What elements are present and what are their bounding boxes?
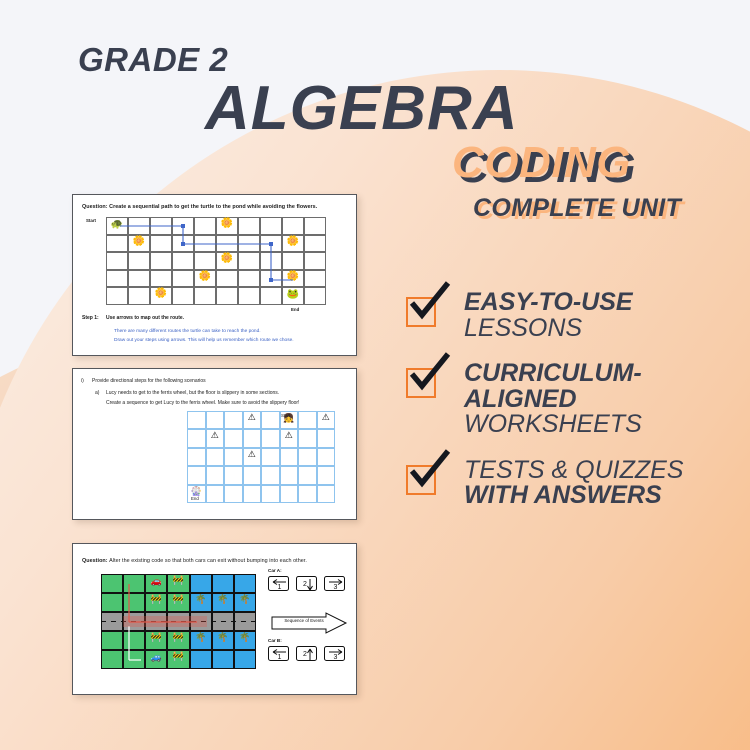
car-b-label: Car B: [268,638,282,643]
grid-cell[interactable] [298,485,317,503]
grid-cell[interactable] [317,448,336,466]
grid-cell[interactable] [261,466,280,484]
car-b-step-3[interactable]: 3 [324,646,345,661]
grid-cell[interactable] [280,485,299,503]
grid-cell[interactable] [317,429,336,447]
feature-list: EASY-TO-USE LESSONS CURRICULUM- ALIGNED … [404,290,744,529]
grid-cell[interactable] [206,485,225,503]
hint-line-2: Draw out your steps using arrows. This w… [114,337,294,344]
grid-cell[interactable] [243,429,262,447]
grid-cell[interactable] [261,485,280,503]
car-a-step-1[interactable]: 1 [268,576,289,591]
grid-cell[interactable] [187,448,206,466]
grid-cell[interactable] [224,466,243,484]
feature-subtitle: LESSONS [464,316,744,342]
worksheet-preview-two-cars[interactable]: Question: Alter the existing code so tha… [72,543,357,695]
feature-item-curriculum-aligned: CURRICULUM- ALIGNED WORKSHEETS [404,361,744,438]
subject-title: ALGEBRA [205,78,519,140]
feature-item-easy-to-use: EASY-TO-USE LESSONS [404,290,744,341]
grid-cell[interactable] [224,429,243,447]
step-label: Step 1: [82,315,99,321]
grid-cell[interactable] [224,448,243,466]
grid-cell[interactable] [280,448,299,466]
worksheet-question: Question: Alter the existing code so tha… [82,558,307,564]
feature-item-tests-quizzes: TESTS & QUIZZES WITH ANSWERS [404,458,744,509]
grid-cell[interactable] [298,429,317,447]
car-a-step-2[interactable]: 2 [296,576,317,591]
end-label: End [191,496,199,501]
car-route-overlays [101,574,257,670]
worksheet-preview-turtle[interactable]: Question: Create a sequential path to ge… [72,194,357,356]
grid-cell[interactable] [187,466,206,484]
worksheet-question: Question: Create a sequential path to ge… [82,204,317,210]
grid-cell[interactable] [261,448,280,466]
grid-cell[interactable] [243,485,262,503]
route-path-arrows [106,217,326,307]
grid-cell[interactable] [261,411,280,429]
car-b-step-1[interactable]: 1 [268,646,289,661]
checkmark-icon [408,281,452,325]
grid-cell[interactable] [206,411,225,429]
feature-subtitle: WITH ANSWERS [464,483,744,509]
checkmark-icon [408,449,452,493]
poster-canvas: GRADE 2 ALGEBRA CODING COMPLETE UNIT EAS… [0,0,750,750]
feature-title: CURRICULUM- [464,361,744,387]
grid-cell[interactable] [298,448,317,466]
feature-title: TESTS & QUIZZES [464,458,744,484]
sub-number: a) [95,390,99,396]
grid-cell[interactable] [243,466,262,484]
car-sequence-panel[interactable]: Car A: 1 2 3 Sequ [268,568,350,673]
item-text: Provide directional steps for the follow… [92,378,206,384]
step-text: Use arrows to map out the route. [106,315,184,321]
grid-cell[interactable] [261,429,280,447]
kicker-label: COMPLETE UNIT [473,196,681,221]
car-b-step-2[interactable]: 2 [296,646,317,661]
worksheet-preview-ferris-wheel[interactable]: i) Provide directional steps for the fol… [72,368,357,520]
wet-floor-sign-icon: ⚠ [282,431,297,445]
grid-cell[interactable] [298,466,317,484]
wet-floor-sign-icon: ⚠ [245,413,260,427]
item-number: i) [81,378,84,384]
grid-cell[interactable] [224,411,243,429]
checkmark-icon [408,352,452,396]
grid-cell[interactable] [280,466,299,484]
sequence-of-events-arrow-icon [270,612,348,634]
topic-title: CODING [452,141,631,185]
grid-cell[interactable] [298,411,317,429]
ferris-wheel-grid[interactable]: ⚠⚠⚠⚠⚠👧🎡 [187,411,335,503]
sub-line-2: Create a sequence to get Lucy to the fer… [106,400,299,406]
sub-line-1: Lucy needs to get to the ferris wheel, b… [106,390,279,396]
start-label: Start [281,413,290,418]
wet-floor-sign-icon: ⚠ [319,413,334,427]
grid-cell[interactable] [224,485,243,503]
grid-cell[interactable] [317,485,336,503]
end-label: End [291,307,299,312]
grid-cell[interactable] [317,466,336,484]
car-a-label: Car A: [268,568,282,573]
grid-cell[interactable] [206,466,225,484]
wet-floor-sign-icon: ⚠ [208,431,223,445]
start-label: Start [86,218,96,223]
sequence-label: Sequence of Events [276,618,332,623]
feature-title-second-line: ALIGNED [464,387,744,413]
feature-subtitle: WORKSHEETS [464,412,744,438]
grid-cell[interactable] [187,411,206,429]
car-a-step-3[interactable]: 3 [324,576,345,591]
feature-title: EASY-TO-USE [464,290,744,316]
wet-floor-sign-icon: ⚠ [245,450,260,464]
hint-line-1: There are many different routes the turt… [114,328,261,335]
grid-cell[interactable] [187,429,206,447]
grid-cell[interactable] [206,448,225,466]
